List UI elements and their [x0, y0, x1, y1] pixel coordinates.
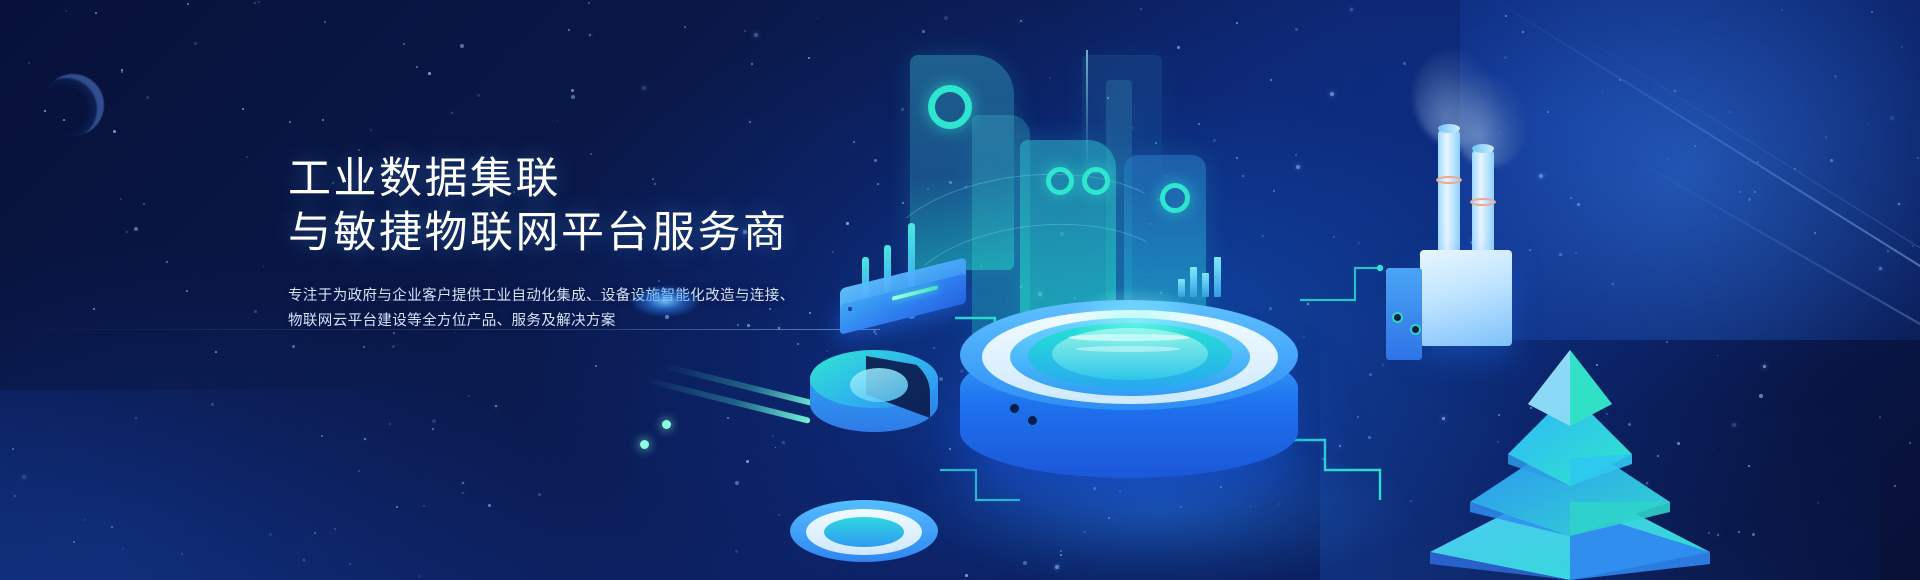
star-particle: [258, 1, 260, 3]
star-particle: [460, 44, 464, 48]
cyan-ring-indicator-icon: [928, 85, 972, 129]
central-iot-dome-platform: [960, 290, 1300, 500]
star-particle: [111, 526, 113, 528]
stepped-pyramid: [1420, 340, 1720, 580]
factory-building-side: [1386, 268, 1422, 360]
star-particle: [73, 541, 75, 543]
beam-endpoint: [662, 420, 671, 429]
star-particle: [269, 533, 272, 536]
star-particle: [746, 460, 749, 463]
router-port: [848, 307, 852, 311]
cyan-ring-indicator-icon: [1160, 183, 1190, 213]
star-particle: [423, 505, 425, 507]
dome-port: [1008, 402, 1021, 415]
star-particle: [358, 470, 360, 472]
star-particle: [65, 10, 67, 12]
star-particle: [22, 475, 26, 479]
hero-subtitle: 专注于为政府与企业客户提供工业自动化集成、设备设施智能化改造与连接、 物联网云平…: [288, 284, 808, 334]
page-title-line-2: 与敏捷物联网平台服务商: [288, 206, 848, 260]
cylinder-inner-face: [850, 368, 908, 402]
star-particle: [12, 448, 14, 450]
star-particle: [735, 550, 738, 553]
star-particle: [211, 403, 214, 406]
factory-with-two-smokestacks: [1420, 80, 1620, 330]
star-particle: [468, 395, 470, 397]
star-particle: [462, 482, 464, 484]
star-particle: [364, 438, 366, 440]
star-particle: [121, 71, 123, 73]
star-particle: [292, 345, 295, 348]
star-particle: [389, 423, 391, 425]
star-particle: [28, 62, 30, 64]
smokestack-ring: [1470, 198, 1496, 206]
star-particle: [146, 96, 149, 99]
smokestack-cap: [1438, 124, 1460, 133]
base-disc-ring: [790, 500, 940, 580]
star-particle: [134, 227, 138, 231]
star-particle: [246, 156, 248, 158]
star-particle: [557, 120, 558, 121]
star-particle: [451, 112, 453, 114]
factory-port: [1410, 324, 1421, 335]
cyan-ring-indicator-icon: [1046, 167, 1074, 195]
star-particle: [166, 261, 168, 263]
star-particle: [349, 563, 351, 565]
headline-divider: [288, 300, 808, 301]
hero-subtitle-line-1: 专注于为政府与企业客户提供工业自动化集成、设备设施智能化改造与连接、: [288, 284, 808, 309]
star-particle: [254, 310, 257, 313]
beam-endpoint: [640, 440, 649, 449]
star-particle: [289, 121, 291, 123]
star-particle: [538, 493, 541, 496]
star-particle: [254, 2, 256, 4]
star-particle: [113, 130, 116, 133]
star-particle: [568, 29, 570, 31]
star-particle: [324, 21, 326, 23]
star-particle: [595, 365, 597, 367]
disc-inner: [824, 517, 904, 547]
star-particle: [93, 308, 95, 310]
star-particle: [428, 72, 431, 75]
star-particle: [121, 69, 123, 71]
star-particle: [432, 419, 436, 423]
cyan-ring-indicator-icon: [1082, 167, 1110, 195]
dome-port: [1026, 414, 1039, 427]
star-particle: [122, 548, 124, 550]
star-particle: [588, 2, 590, 4]
star-particle: [488, 504, 491, 507]
bottom-diagonal-wash: [0, 390, 760, 580]
star-particle: [749, 121, 751, 123]
star-particle: [571, 89, 574, 92]
star-particle: [358, 149, 360, 151]
star-particle: [242, 108, 244, 110]
star-particle: [495, 405, 497, 407]
star-particle: [751, 63, 753, 65]
star-particle: [403, 43, 405, 45]
hero-subtitle-line-2: 物联网云平台建设等全方位产品、服务及解决方案: [288, 309, 808, 334]
factory-building: [1420, 250, 1512, 346]
star-particle: [194, 42, 197, 45]
star-particle: [589, 34, 591, 36]
star-particle: [322, 119, 324, 121]
star-particle: [642, 86, 646, 90]
headline-glow-accent: [630, 285, 700, 317]
hero-banner: 工业数据集联 与敏捷物联网平台服务商 专注于为政府与企业客户提供工业自动化集成、…: [0, 0, 1920, 580]
hero-copy: 工业数据集联 与敏捷物联网平台服务商 专注于为政府与企业客户提供工业自动化集成、…: [288, 152, 848, 334]
star-particle: [754, 33, 758, 37]
star-particle: [462, 492, 464, 494]
dome-top-glow: [1070, 286, 1200, 356]
star-particle: [303, 559, 305, 561]
star-particle: [392, 345, 395, 348]
star-particle: [684, 26, 686, 28]
star-particle: [416, 66, 418, 68]
hero-illustration: [780, 0, 1920, 580]
star-particle: [727, 417, 729, 419]
page-title-line-1: 工业数据集联: [288, 152, 848, 206]
star-particle: [143, 203, 145, 205]
star-particle: [181, 553, 183, 555]
star-particle: [772, 435, 774, 437]
star-particle: [418, 575, 420, 577]
star-particle: [14, 495, 16, 497]
star-particle: [95, 12, 97, 14]
star-particle: [370, 129, 372, 131]
star-particle: [187, 3, 189, 5]
crescent-moon-icon: [42, 74, 104, 136]
wireless-router-three-antennas: [840, 215, 975, 325]
star-particle: [334, 528, 336, 530]
star-particle: [477, 94, 480, 97]
star-particle: [432, 428, 434, 430]
star-particle: [363, 346, 365, 348]
star-particle: [744, 30, 746, 32]
star-particle: [775, 447, 776, 448]
star-particle: [735, 481, 739, 485]
star-particle: [135, 417, 137, 419]
smokestack-ring: [1436, 176, 1462, 184]
star-particle: [120, 198, 122, 200]
star-particle: [186, 290, 188, 292]
star-particle: [571, 95, 575, 99]
star-particle: [126, 231, 128, 233]
star-particle: [396, 506, 398, 508]
smokestack-cap: [1472, 144, 1494, 153]
star-particle: [314, 532, 316, 534]
factory-port: [1392, 312, 1403, 323]
data-cylinder-cutaway: [810, 350, 940, 470]
star-particle: [321, 435, 323, 437]
star-particle: [215, 351, 217, 353]
star-particle: [84, 519, 86, 521]
star-particle: [263, 266, 264, 267]
antenna-mast: [1086, 50, 1088, 170]
